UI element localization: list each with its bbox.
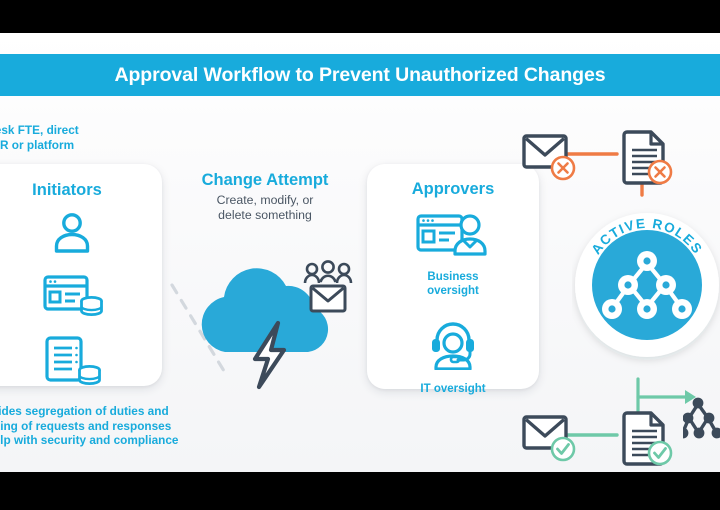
card-initiators-title: Initiators — [0, 181, 162, 200]
approver-label-it: IT oversight — [420, 383, 485, 397]
slide-stage: Approval Workflow to Prevent Unauthorize… — [0, 0, 720, 510]
group-envelope-icon — [305, 261, 351, 311]
card-initiators[interactable]: Initiators — [0, 164, 162, 386]
person-icon — [49, 210, 95, 261]
letterbox-bar-top — [0, 0, 720, 33]
check-badge-document — [649, 442, 671, 464]
change-attempt-icons — [192, 255, 367, 390]
flow-rejected — [505, 118, 705, 208]
headset-agent-icon — [426, 322, 480, 375]
change-attempt-subtitle: Create, modify, or delete something — [170, 193, 360, 222]
caption-top-left: Helpdesk FTE, direct from HR or platform — [0, 123, 162, 152]
x-badge-envelope — [552, 157, 574, 179]
slide-canvas: Approval Workflow to Prevent Unauthorize… — [0, 33, 720, 472]
letterbox-bar-bottom — [0, 472, 720, 510]
approver-label-business: Business oversight — [427, 271, 479, 298]
caption-bottom-left: Provides segregation of duties and track… — [0, 404, 242, 448]
change-attempt-block: Change Attempt Create, modify, or delete… — [170, 171, 360, 222]
page-title: Approval Workflow to Prevent Unauthorize… — [115, 64, 606, 87]
browser-database-icon — [43, 273, 105, 324]
change-attempt-title: Change Attempt — [170, 171, 360, 190]
check-badge-envelope — [552, 438, 574, 460]
browser-person-icon — [416, 212, 490, 263]
document-database-icon — [44, 336, 104, 393]
cloud-icon — [202, 268, 328, 352]
flow-approved — [505, 401, 720, 472]
title-banner: Approval Workflow to Prevent Unauthorize… — [0, 54, 720, 96]
active-roles-badge[interactable]: ACTIVE ROLES — [572, 197, 720, 382]
x-badge-document — [649, 161, 671, 183]
